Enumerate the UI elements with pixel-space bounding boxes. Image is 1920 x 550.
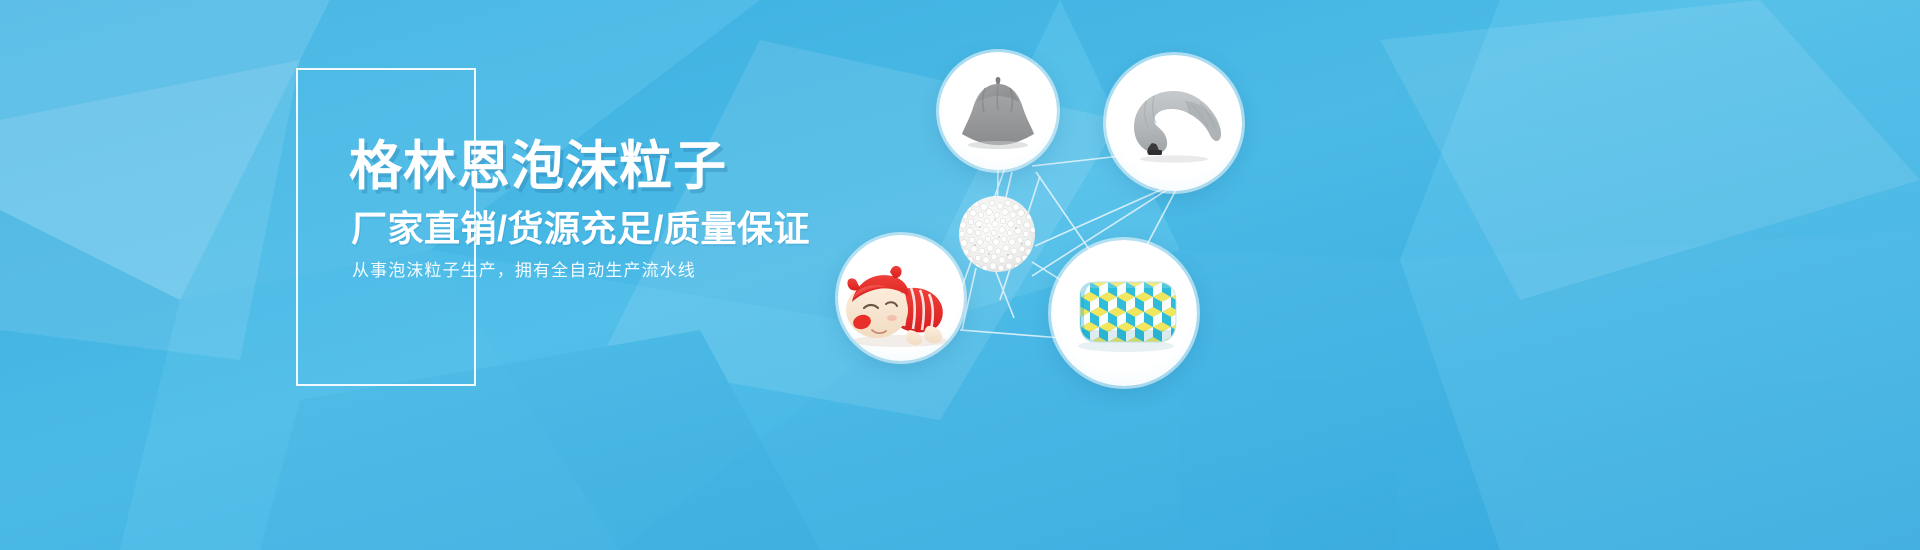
foam-particles-icon[interactable] [959, 196, 1035, 272]
product-bubble-plush-toy[interactable] [838, 235, 964, 361]
neck-pillow-icon [1106, 55, 1242, 191]
bean-bag-chair-icon [939, 52, 1057, 170]
page-title: 格林恩泡沫粒子 [349, 140, 727, 193]
headline-block: 格林恩泡沫粒子 厂家直销/货源充足/质量保证 从事泡沫粒子生产，拥有全自动生产流… [0, 0, 900, 550]
promo-banner: 格林恩泡沫粒子 厂家直销/货源充足/质量保证 从事泡沫粒子生产，拥有全自动生产流… [0, 0, 1920, 550]
cube-pillow-icon [1051, 240, 1197, 386]
product-bubble-bean-bag-chair[interactable] [939, 52, 1057, 170]
product-bubble-neck-pillow[interactable] [1106, 55, 1242, 191]
tagline: 从事泡沫粒子生产，拥有全自动生产流水线 [352, 262, 696, 279]
product-cluster [800, 0, 1920, 550]
plush-toy-icon [838, 235, 964, 361]
subtitle: 厂家直销/货源充足/质量保证 [351, 211, 810, 247]
product-bubble-cube-pillow[interactable] [1051, 240, 1197, 386]
